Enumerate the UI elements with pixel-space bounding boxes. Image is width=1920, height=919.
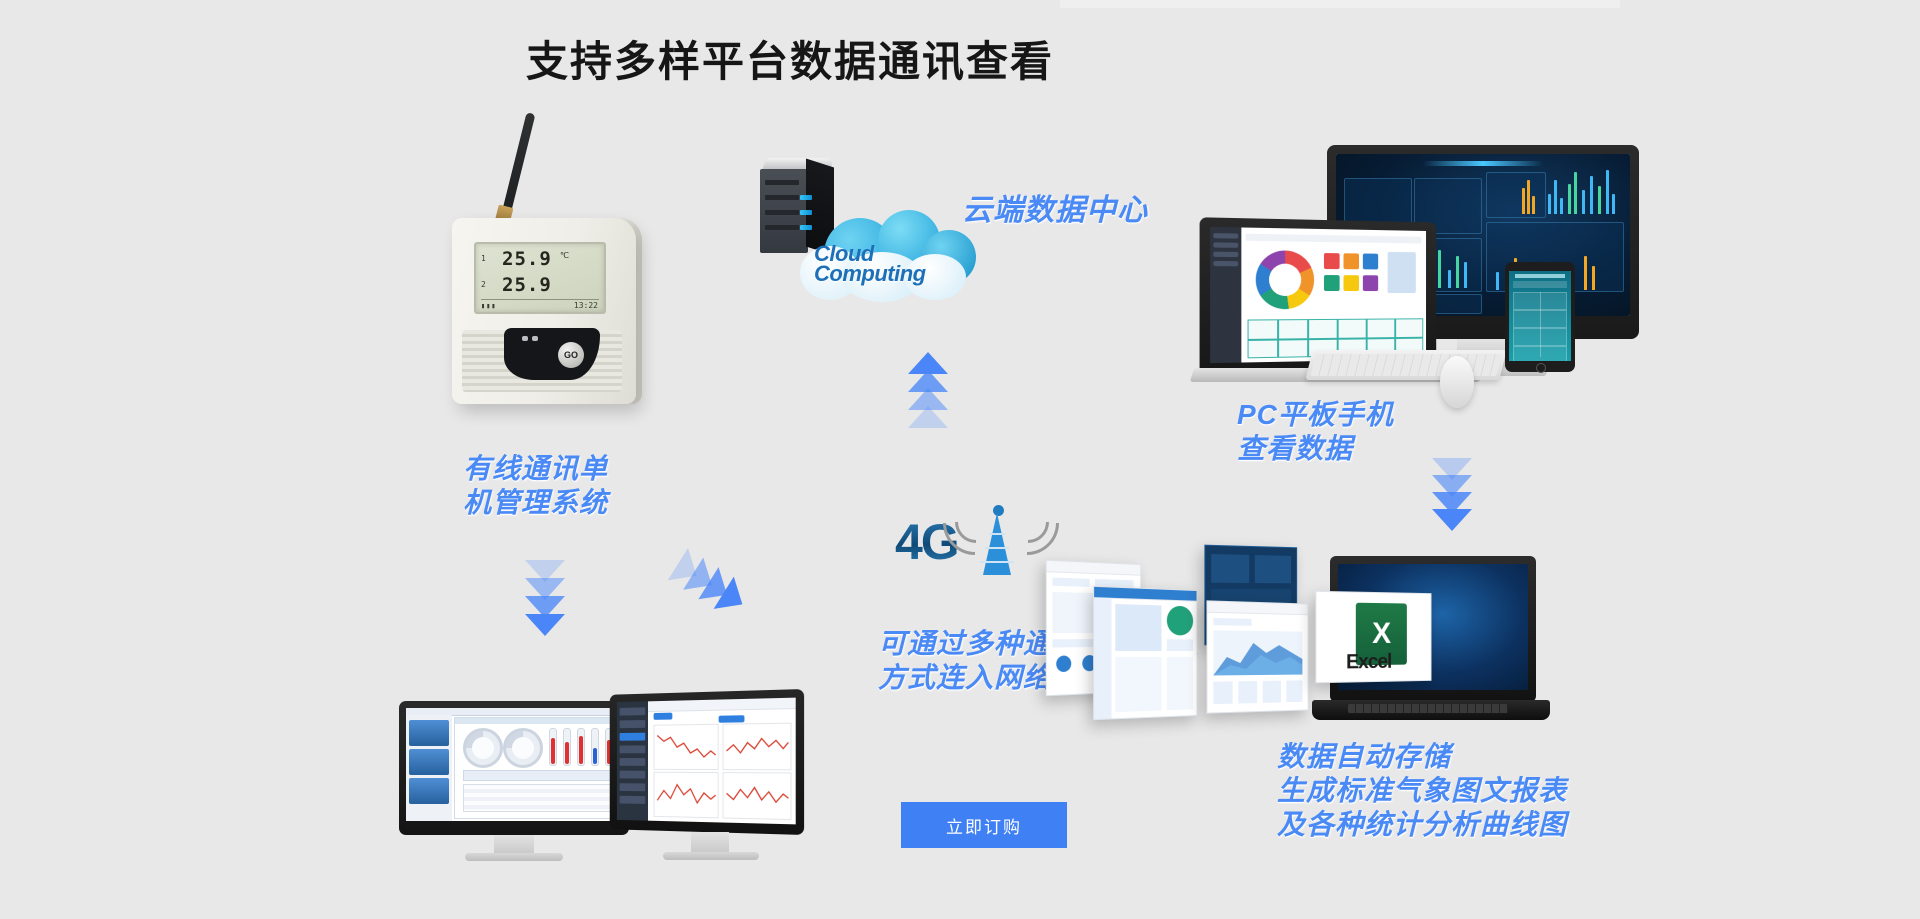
infographic-canvas [1210, 227, 1426, 363]
card-bubble [1056, 655, 1071, 672]
monitor-screen [406, 708, 622, 821]
monitor-stand [691, 832, 729, 854]
kpi-chip [1324, 253, 1340, 269]
sidebar-card [409, 749, 449, 775]
bar-cluster [1522, 174, 1536, 214]
cloud-word-line2: Computing [814, 264, 994, 284]
charts-toolbar [648, 698, 796, 712]
cell-tower-icon [969, 503, 1025, 575]
card-widget [1115, 657, 1161, 712]
laptop-keyboard [1348, 704, 1508, 713]
line-chart-svg [724, 773, 791, 819]
lcd-channel1-value: 25.9 [502, 248, 552, 270]
card-block [1167, 639, 1193, 651]
server-slot [765, 180, 799, 185]
lcd-channel1-label: 1 [481, 254, 486, 263]
sidebar-item [620, 758, 646, 766]
kpi-chip [1363, 275, 1378, 291]
card-header [1207, 601, 1307, 615]
chevron-down-icon [525, 614, 565, 636]
thermometer-widget [563, 728, 571, 766]
tablet-home-button[interactable] [1536, 363, 1546, 373]
sidebar-chip [1213, 261, 1238, 266]
gauge-widget [463, 728, 503, 768]
server-slot [765, 195, 799, 200]
chevron-down-icon [1432, 509, 1472, 531]
illustration [1388, 252, 1416, 293]
poster-stage: 支持多样平台数据通讯查看 1 25.9 ℃ 2 25.9 ▮▮▮ 13:22 G… [0, 0, 1920, 919]
lcd-channel2-label: 2 [481, 280, 486, 289]
monitor-screen [617, 698, 796, 825]
data-cell [1367, 318, 1396, 338]
sidebar-item [620, 707, 646, 715]
data-cell [1308, 319, 1338, 339]
keyboard[interactable] [1305, 350, 1506, 380]
card-chart [1115, 604, 1161, 651]
lcd-signal-indicator: ▮▮▮ [481, 302, 497, 310]
card-block [1286, 680, 1302, 702]
sidebar-item [620, 796, 646, 804]
sensor-black-panel [504, 328, 600, 380]
kpi-chip [1344, 253, 1359, 269]
chart-tab [719, 715, 745, 723]
sidebar-card [409, 720, 449, 746]
server-slot [765, 225, 799, 230]
server-slot [765, 210, 799, 215]
monitor-stand [494, 835, 534, 855]
data-table [463, 784, 613, 812]
sidebar-card [409, 778, 449, 804]
mouse[interactable] [1440, 356, 1474, 408]
gauge-widget [503, 728, 543, 768]
order-now-button[interactable]: 立即订购 [901, 802, 1067, 848]
line-chart [723, 772, 792, 820]
card-header [1047, 561, 1141, 576]
data-cell [1338, 319, 1367, 339]
laptop-screen [1210, 227, 1426, 363]
wireless-temperature-sensor: 1 25.9 ℃ 2 25.9 ▮▮▮ 13:22 GO [452, 170, 642, 410]
tablet-column-divider [1540, 292, 1541, 357]
sensor-led-2 [532, 336, 538, 341]
card-area-chart [1213, 630, 1302, 675]
tablet-device [1505, 262, 1575, 372]
lcd-divider [481, 299, 599, 300]
lcd-channel1-unit: ℃ [560, 251, 569, 260]
lcd-channel2-value: 25.9 [502, 274, 552, 296]
4g-tower-graphic: 4G [895, 497, 1035, 577]
kpi-chip [1363, 254, 1378, 270]
line-chart-svg [655, 725, 718, 769]
lcd-clock: 13:22 [574, 301, 598, 310]
sidebar-item [620, 783, 646, 791]
card-widget [1167, 657, 1193, 710]
card-donut [1167, 606, 1193, 636]
data-cell [1278, 339, 1308, 358]
server-led [800, 195, 812, 200]
sensor-led-1 [522, 336, 528, 341]
card-block [1263, 681, 1281, 703]
label-pc-tablet-phone: PC平板手机 查看数据 [1237, 398, 1394, 466]
line-chart-svg [724, 724, 791, 770]
label-wired-system: 有线通讯单 机管理系统 [463, 452, 608, 520]
tablet-screen [1509, 271, 1571, 361]
sidebar-chip [1213, 252, 1238, 257]
sensor-lcd-display: 1 25.9 ℃ 2 25.9 ▮▮▮ 13:22 [474, 242, 606, 314]
floating-card-excel: X Excel [1315, 591, 1431, 683]
card-block [1052, 578, 1089, 587]
card-block [1255, 555, 1291, 583]
card-block [1211, 554, 1249, 583]
chart-tab [654, 713, 673, 720]
toolbar [1245, 234, 1421, 244]
area-chart-svg [1213, 630, 1302, 675]
bar-cluster [1546, 166, 1618, 214]
desktop-monitor-dashboard [399, 701, 629, 861]
cloud-computing-wordmark: Cloud Computing [814, 244, 994, 284]
tablet-subheader [1513, 281, 1567, 288]
antenna-icon [500, 112, 535, 221]
kpi-chip [1324, 275, 1340, 291]
thermometer-widget [549, 728, 557, 766]
data-cell [1278, 319, 1308, 339]
card-block [1213, 681, 1232, 704]
button-toolbar [463, 770, 613, 781]
thermometer-widget [577, 728, 585, 766]
monitor-foot [465, 853, 563, 861]
sidebar-chip [1213, 233, 1238, 239]
app-main-panel [454, 717, 620, 819]
data-cell [1248, 319, 1279, 340]
data-cell [1395, 318, 1423, 338]
label-cloud-center: 云端数据中心 [962, 193, 1148, 229]
card-sidebar [1094, 597, 1111, 719]
label-auto-storage: 数据自动存储 生成标准气象图文报表 及各种统计分析曲线图 [1277, 740, 1567, 842]
floating-card-analytics [1093, 586, 1197, 720]
data-cell [1248, 340, 1279, 359]
donut-chart [1256, 250, 1314, 309]
monitor-foot [663, 852, 759, 860]
tablet-header [1515, 274, 1565, 278]
line-chart [723, 723, 792, 771]
desktop-monitor-charts [603, 692, 813, 860]
panel-header [455, 718, 619, 724]
tower-rung [980, 561, 1014, 563]
sidebar-item [620, 745, 646, 753]
sidebar-item [620, 720, 646, 728]
top-strip [1060, 0, 1620, 8]
dell-laptop: X Excel [1252, 556, 1538, 726]
card-block [1238, 681, 1257, 704]
chevron-up-icon [908, 406, 948, 428]
excel-wordmark: Excel [1346, 651, 1391, 675]
card-block [1213, 618, 1251, 626]
sidebar-chip [1213, 242, 1238, 247]
kpi-chip [1344, 275, 1359, 291]
line-chart [654, 772, 719, 819]
page-title: 支持多样平台数据通讯查看 [0, 28, 1750, 89]
laptop-infographic [1192, 220, 1462, 370]
tablet-dashboard [1509, 271, 1571, 361]
sensor-go-button[interactable]: GO [558, 342, 584, 368]
sidebar-item-active [620, 733, 646, 741]
dashboard-panel [1486, 172, 1546, 218]
line-chart-svg [655, 773, 718, 818]
dashboard-title-bar [1423, 161, 1543, 166]
thermometer-widget [591, 728, 599, 766]
line-chart [654, 724, 719, 770]
floating-card-report [1206, 600, 1308, 713]
sidebar-item [620, 771, 646, 779]
